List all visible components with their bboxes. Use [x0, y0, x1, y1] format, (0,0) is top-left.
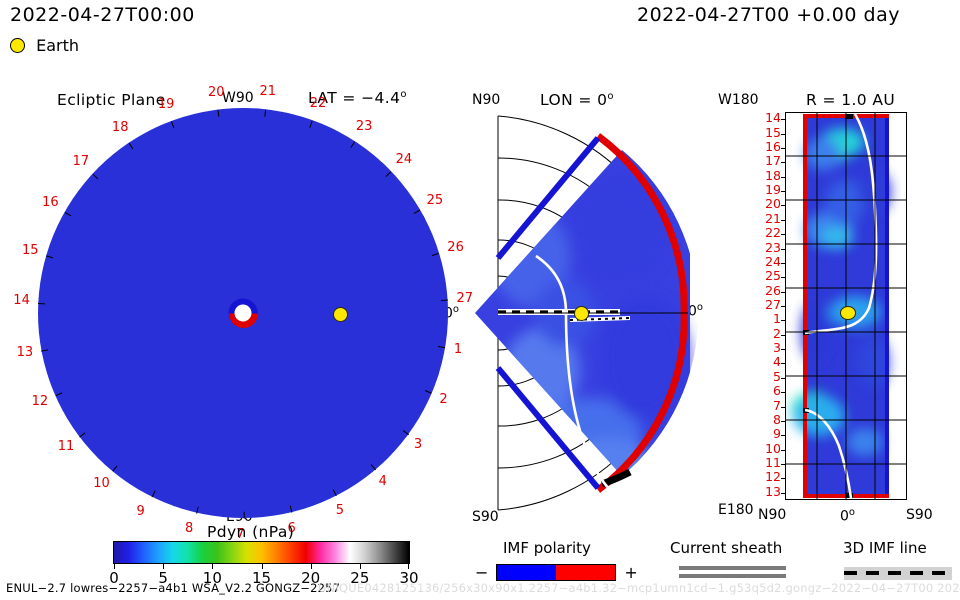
synoptic-longitude-label: 5 [759, 371, 781, 384]
ecliptic-top-label: W90 [222, 91, 254, 105]
synoptic-longitude-label: 18 [759, 170, 781, 183]
synoptic-data-area [785, 112, 907, 500]
footer-run-id: ENUL−2.7 lowres−2257−a4b1 WSA_V2.2 GONGZ… [6, 583, 340, 595]
synoptic-y-tick [781, 407, 786, 408]
imf-polarity-minus: − [475, 565, 488, 581]
synoptic-bottom-label: E180 [718, 503, 754, 517]
synoptic-y-tick [781, 277, 786, 278]
synoptic-map-plot: 1415161718192021222324252627123456789101… [757, 112, 937, 500]
header-datetime-right: 2022-04-27T00 +0.00 day [637, 6, 900, 25]
ecliptic-panel-title: Ecliptic Plane [57, 93, 166, 109]
synoptic-y-tick [781, 335, 786, 336]
imf-polarity-plus: + [624, 565, 637, 581]
mer-title-sup: o [607, 91, 614, 102]
ecl-right-sup: o [453, 304, 459, 315]
synoptic-xlabel-n90: N90 [758, 508, 786, 522]
synoptic-top-label: W180 [718, 93, 759, 107]
imf-polarity-title: IMF polarity [503, 541, 638, 556]
synoptic-xlabel-s90: S90 [906, 508, 933, 522]
earth-position-marker [333, 307, 348, 322]
synoptic-longitude-label: 7 [759, 400, 781, 413]
synoptic-longitude-label: 12 [759, 471, 781, 484]
imf-line-legend: 3D IMF line [843, 541, 952, 580]
synoptic-longitude-label: 3 [759, 342, 781, 355]
synoptic-longitude-label: 26 [759, 285, 781, 298]
current-sheath-line-bottom [679, 574, 786, 578]
ecliptic-lat-label: LAT = −4.4o [308, 90, 407, 107]
synoptic-y-tick [781, 306, 786, 307]
footer-watermark: UNIQUE0428125136/256x30x90x1.2257−a4b1.3… [318, 583, 960, 595]
meridional-top-label: N90 [472, 93, 500, 107]
synoptic-y-tick [781, 363, 786, 364]
syn-x-zero-value: 0 [840, 509, 849, 525]
synoptic-longitude-label: 9 [759, 428, 781, 441]
lat-degree-sup: o [400, 89, 407, 100]
sun-disc [235, 305, 252, 322]
current-sheath-legend: Current sheath [670, 541, 786, 578]
synoptic-longitude-label: 24 [759, 256, 781, 269]
synoptic-longitude-label: 17 [759, 155, 781, 168]
lat-value: LAT = −4.4 [308, 89, 400, 107]
ecliptic-carrington-label: 15 [22, 244, 39, 257]
synoptic-y-tick [781, 119, 786, 120]
synoptic-earth-marker [840, 306, 856, 320]
enlil-visualization: 2022-04-27T00:00 2022-04-27T00 +0.00 day… [0, 0, 960, 600]
earth-legend-label: Earth [36, 36, 79, 55]
synoptic-y-tick [781, 148, 786, 149]
earth-marker-icon [10, 38, 25, 53]
synoptic-y-tick [781, 263, 786, 264]
synoptic-longitude-label: 8 [759, 414, 781, 427]
synoptic-xlabel-zero: 0o [840, 508, 855, 524]
syn-x-zero-sup: o [849, 507, 855, 518]
earth-legend: Earth [10, 38, 79, 54]
pdyn-colorbar: 051015202530 [113, 541, 410, 564]
ecliptic-carrington-label: 13 [17, 346, 34, 359]
synoptic-longitude-label: 10 [759, 443, 781, 456]
colorbar-title: Pdyn (nPa) [207, 525, 294, 541]
synoptic-longitude-label: 27 [759, 299, 781, 312]
ecliptic-plane-plot [38, 108, 448, 518]
meridional-earth-marker [574, 306, 589, 321]
meridional-right-label: 0o [688, 303, 703, 319]
synoptic-y-tick [781, 205, 786, 206]
synoptic-left-polarity [803, 114, 807, 498]
synoptic-y-tick [781, 220, 786, 221]
synoptic-y-tick [781, 191, 786, 192]
synoptic-longitude-label: 14 [759, 112, 781, 125]
synoptic-right-polarity [885, 114, 889, 498]
ecliptic-carrington-label: 14 [13, 294, 30, 307]
synoptic-y-tick [781, 493, 786, 494]
synoptic-panel-title: R = 1.0 AU [806, 93, 895, 109]
synoptic-longitude-label: 23 [759, 242, 781, 255]
synoptic-y-tick [781, 378, 786, 379]
synoptic-longitude-label: 20 [759, 198, 781, 211]
ecliptic-carrington-label: 21 [259, 85, 276, 98]
synoptic-longitude-label: 2 [759, 328, 781, 341]
synoptic-longitude-label: 1 [759, 313, 781, 326]
ecliptic-carrington-label: 26 [447, 241, 464, 254]
synoptic-y-tick [781, 134, 786, 135]
synoptic-y-tick [781, 234, 786, 235]
mer-right-sup: o [697, 302, 703, 313]
header-datetime-left: 2022-04-27T00:00 [10, 6, 195, 25]
current-sheath-line-top [679, 566, 786, 570]
synoptic-y-tick [781, 478, 786, 479]
meridional-panel-title: LON = 0o [540, 92, 614, 109]
current-sheath-title: Current sheath [670, 541, 786, 556]
synoptic-longitude-label: 6 [759, 385, 781, 398]
ecliptic-carrington-label: 1 [454, 343, 462, 356]
meridional-plane-plot [470, 108, 690, 518]
synoptic-y-tick [781, 450, 786, 451]
synoptic-y-tick [781, 349, 786, 350]
synoptic-longitude-label: 11 [759, 457, 781, 470]
synoptic-longitude-label: 25 [759, 270, 781, 283]
synoptic-y-tick [781, 435, 786, 436]
synoptic-longitude-label: 13 [759, 486, 781, 499]
synoptic-longitude-label: 22 [759, 227, 781, 240]
synoptic-y-tick [781, 162, 786, 163]
synoptic-y-tick [781, 464, 786, 465]
imf-polarity-bar [496, 564, 616, 581]
synoptic-y-tick [781, 320, 786, 321]
colorbar-gradient [114, 542, 409, 563]
ecliptic-carrington-label: 8 [185, 522, 193, 535]
sun-marker-icon [232, 302, 254, 324]
synoptic-longitude-label: 19 [759, 184, 781, 197]
synoptic-longitude-label: 4 [759, 356, 781, 369]
imf-line-title: 3D IMF line [843, 541, 952, 556]
synoptic-y-tick [781, 392, 786, 393]
synoptic-y-tick [781, 421, 786, 422]
synoptic-longitude-label: 15 [759, 127, 781, 140]
imf-polarity-legend: IMF polarity − + [503, 541, 638, 581]
synoptic-longitude-label: 21 [759, 213, 781, 226]
imf-line-sample [844, 567, 952, 580]
synoptic-y-tick [781, 177, 786, 178]
synoptic-y-tick [781, 292, 786, 293]
synoptic-y-labels: 1415161718192021222324252627123456789101… [757, 112, 785, 500]
synoptic-longitude-label: 16 [759, 141, 781, 154]
mer-title-value: LON = 0 [540, 91, 607, 109]
synoptic-y-tick [781, 249, 786, 250]
